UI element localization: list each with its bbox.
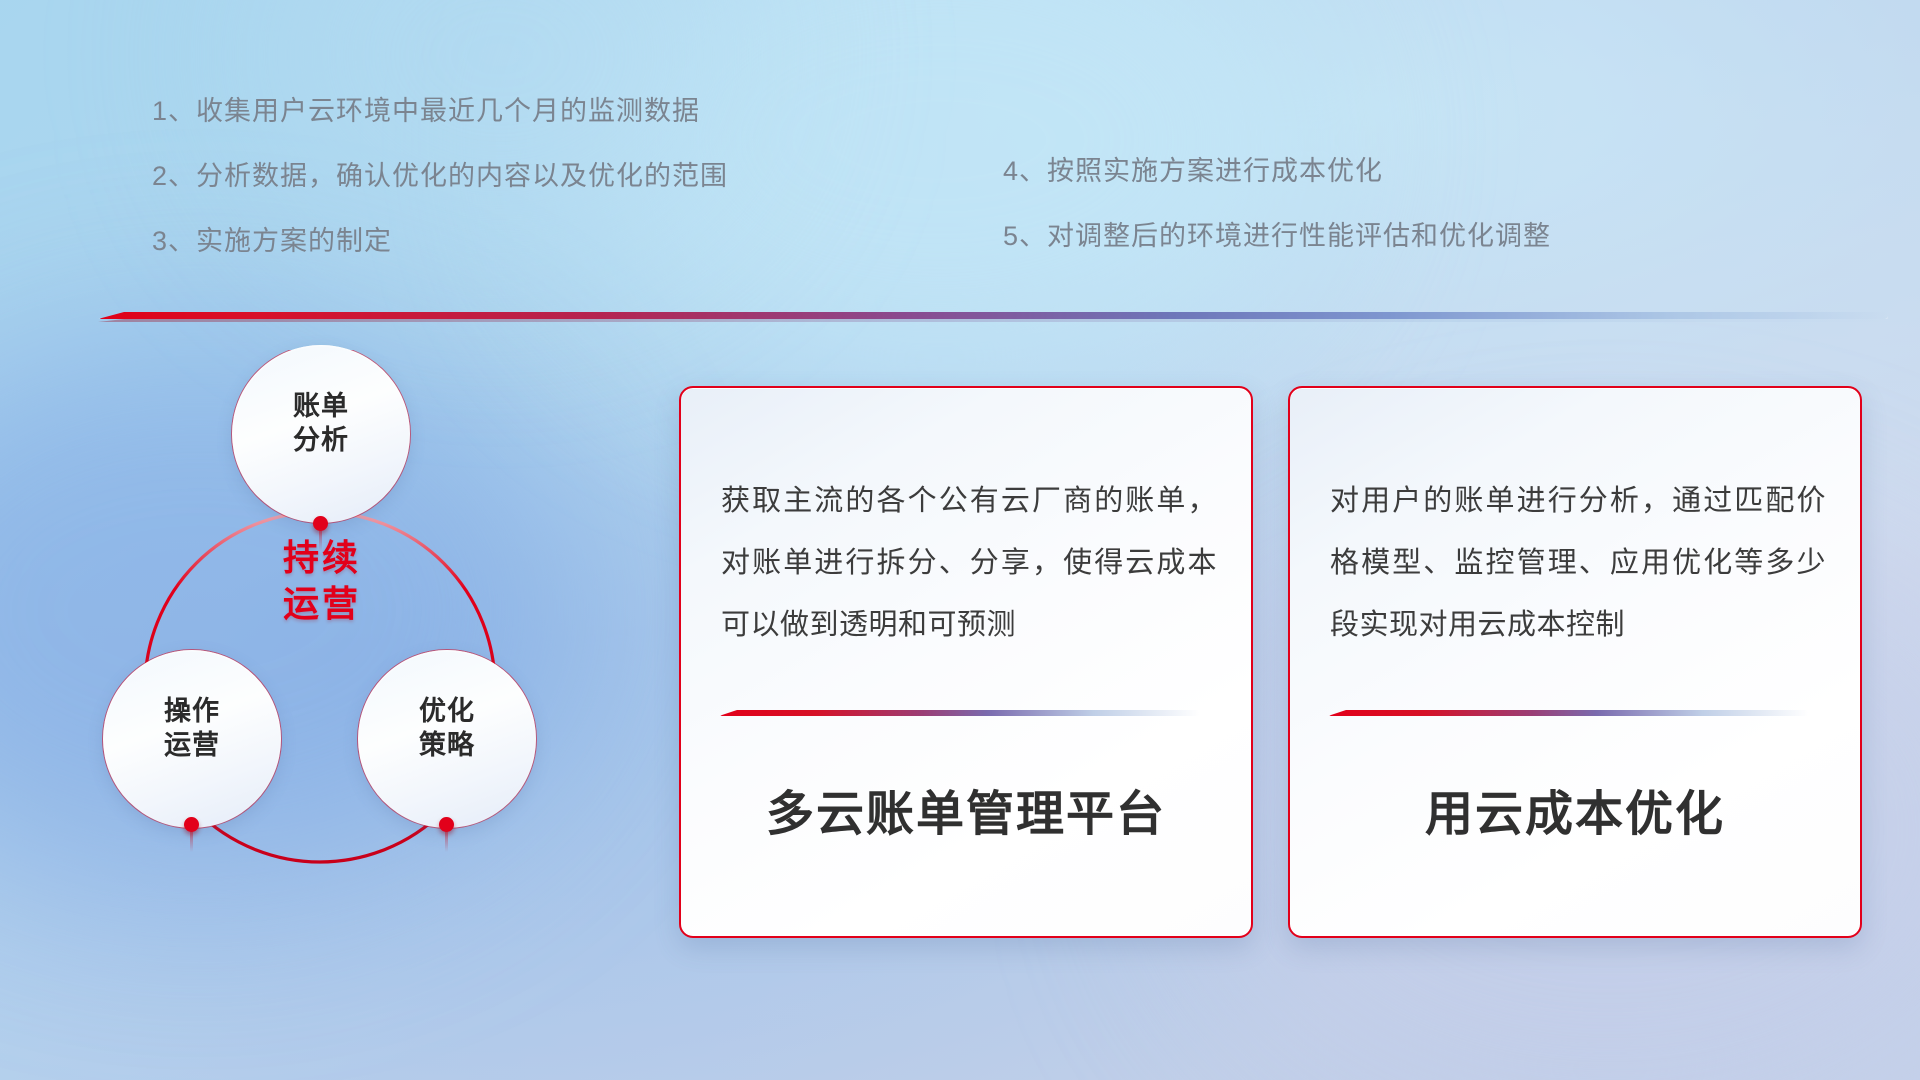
card-multi-cloud-billing-body: 获取主流的各个公有云厂商的账单，对账单进行拆分、分享，使得云成本可以做到透明和可… bbox=[721, 470, 1217, 656]
header-divider-bar bbox=[98, 312, 1888, 319]
header-divider bbox=[98, 312, 1888, 324]
venn-node-operation[interactable]: 操作运营 bbox=[103, 650, 281, 828]
venn-label-line2: 分析 bbox=[293, 425, 349, 455]
venn-label-line2: 策略 bbox=[419, 730, 475, 760]
venn-node-operation-label: 操作运营 bbox=[103, 694, 281, 762]
card-cloud-cost-optimization-title: 用云成本优化 bbox=[1290, 774, 1860, 844]
venn-center-label-line1: 持续 bbox=[204, 535, 440, 581]
venn-center-label-line2: 运营 bbox=[204, 581, 440, 627]
step-item-1: 1、收集用户云环境中最近几个月的监测数据 bbox=[152, 98, 728, 125]
venn-center-label: 持续 运营 bbox=[204, 535, 440, 626]
card-multi-cloud-billing-divider bbox=[719, 710, 1199, 716]
venn-node-optimization-strategy-label: 优化策略 bbox=[358, 694, 536, 762]
step-item-5: 5、对调整后的环境进行性能评估和优化调整 bbox=[1003, 223, 1551, 250]
steps-left-column: 1、收集用户云环境中最近几个月的监测数据 2、分析数据，确认优化的内容以及优化的… bbox=[152, 98, 728, 293]
card-cloud-cost-optimization[interactable]: 对用户的账单进行分析，通过匹配价格模型、监控管理、应用优化等多少段实现对用云成本… bbox=[1288, 386, 1862, 938]
card-cloud-cost-optimization-body: 对用户的账单进行分析，通过匹配价格模型、监控管理、应用优化等多少段实现对用云成本… bbox=[1330, 470, 1826, 656]
venn-label-line1: 优化 bbox=[419, 696, 475, 726]
venn-connector-dot-bottom-left bbox=[184, 817, 199, 832]
slide-canvas: 1、收集用户云环境中最近几个月的监测数据 2、分析数据，确认优化的内容以及优化的… bbox=[0, 0, 1920, 1080]
card-cloud-cost-optimization-divider bbox=[1328, 710, 1808, 716]
continuous-operation-diagram: 账单分析 操作运营 优化策略 持续 运营 bbox=[96, 350, 566, 950]
venn-label-line1: 操作 bbox=[164, 696, 220, 726]
venn-node-billing-analysis-label: 账单分析 bbox=[232, 389, 410, 457]
venn-connector-dot-top bbox=[313, 516, 328, 531]
venn-node-billing-analysis[interactable]: 账单分析 bbox=[232, 345, 410, 523]
venn-label-line1: 账单 bbox=[293, 391, 349, 421]
step-item-4: 4、按照实施方案进行成本优化 bbox=[1003, 158, 1551, 185]
venn-node-optimization-strategy[interactable]: 优化策略 bbox=[358, 650, 536, 828]
header-divider-shadow bbox=[98, 319, 1888, 322]
step-item-2: 2、分析数据，确认优化的内容以及优化的范围 bbox=[152, 163, 728, 190]
steps-section: 1、收集用户云环境中最近几个月的监测数据 2、分析数据，确认优化的内容以及优化的… bbox=[0, 0, 1920, 300]
card-multi-cloud-billing-title: 多云账单管理平台 bbox=[681, 774, 1251, 844]
steps-right-column: 4、按照实施方案进行成本优化 5、对调整后的环境进行性能评估和优化调整 bbox=[1003, 158, 1551, 288]
step-item-3: 3、实施方案的制定 bbox=[152, 228, 728, 255]
card-multi-cloud-billing[interactable]: 获取主流的各个公有云厂商的账单，对账单进行拆分、分享，使得云成本可以做到透明和可… bbox=[679, 386, 1253, 938]
venn-label-line2: 运营 bbox=[164, 730, 220, 760]
venn-connector-dot-bottom-right bbox=[439, 817, 454, 832]
